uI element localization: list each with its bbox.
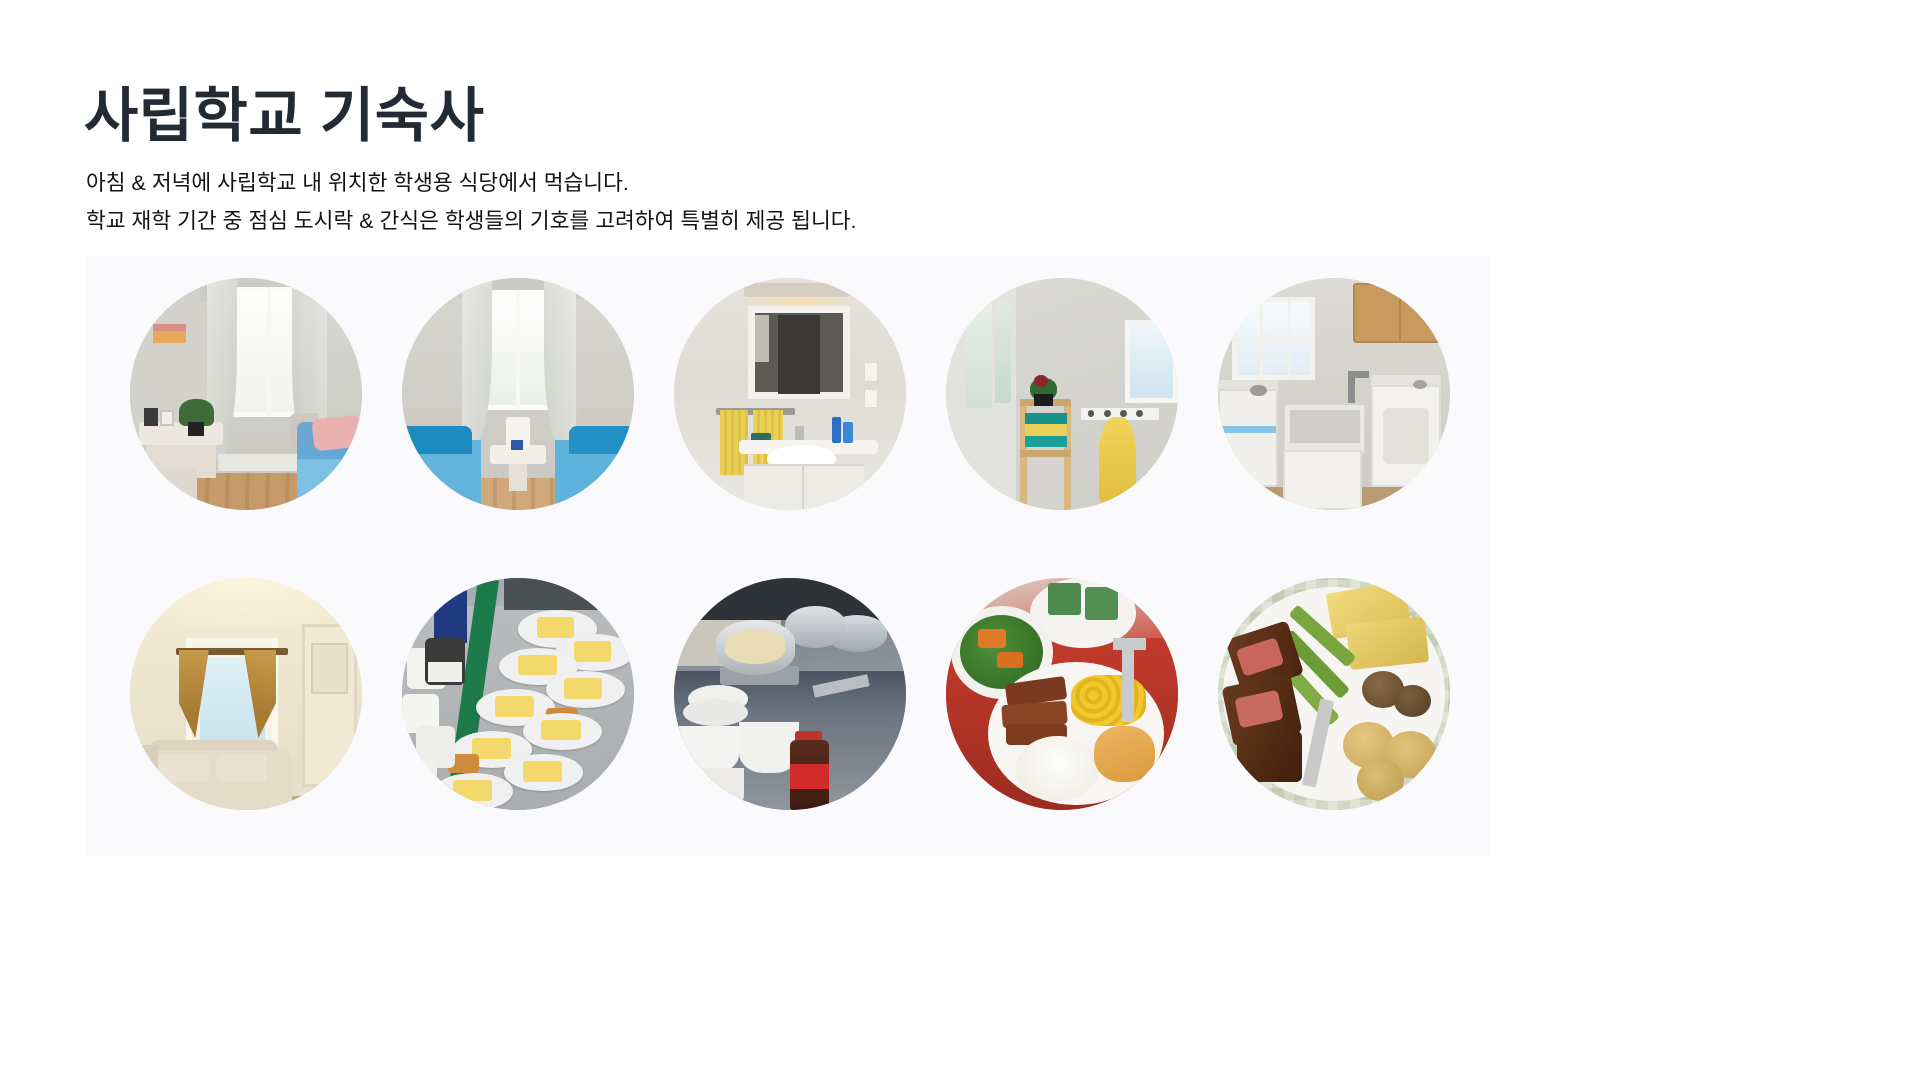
circular-photo-5[interactable] (1218, 278, 1450, 510)
intro-paragraph: 아침 & 저녁에 사립학교 내 위치한 학생용 식당에서 먹습니다. 학교 재학… (86, 165, 857, 240)
gallery-item-breakfast-plates-mugs[interactable] (402, 578, 634, 810)
circular-photo-9[interactable] (946, 578, 1178, 810)
circular-photo-1[interactable] (130, 278, 362, 510)
page-title: 사립학교 기숙사 (84, 84, 484, 149)
circular-photo-4[interactable] (946, 278, 1178, 510)
gallery-item-dorm-room-desk-bed[interactable] (130, 278, 362, 510)
photo-gallery-panel (85, 256, 1490, 856)
circular-photo-2[interactable] (402, 278, 634, 510)
photo-scene-living-room (130, 578, 362, 810)
circular-photo-6[interactable] (130, 578, 362, 810)
photo-scene-twin-beds (402, 278, 634, 510)
circular-photo-3[interactable] (674, 278, 906, 510)
photo-scene-steak-plate (1218, 578, 1450, 810)
gallery-item-living-room-sofa-window[interactable] (130, 578, 362, 810)
circular-photo-8[interactable] (674, 578, 906, 810)
photo-scene-dinner-plate (946, 578, 1178, 810)
gallery-item-buffet-chafing-dishes[interactable] (674, 578, 906, 810)
gallery-item-hallway-shelf-towel-hooks[interactable] (946, 278, 1178, 510)
gallery-item-laundry-room-washer-dryer[interactable] (1218, 278, 1450, 510)
gallery-item-bathroom-vanity-mirror[interactable] (674, 278, 906, 510)
intro-line-1: 아침 & 저녁에 사립학교 내 위치한 학생용 식당에서 먹습니다. (86, 165, 857, 203)
gallery-item-steak-potatoes-asparagus[interactable] (1218, 578, 1450, 810)
photo-scene-laundry (1218, 278, 1450, 510)
gallery-item-dorm-room-twin-beds[interactable] (402, 278, 634, 510)
photo-scene-hallway (946, 278, 1178, 510)
intro-line-2: 학교 재학 기간 중 점심 도시락 & 간식은 학생들의 기호를 고려하여 특별… (86, 203, 857, 241)
gallery-item-dinner-plate-rice-corn[interactable] (946, 578, 1178, 810)
photo-grid (85, 256, 1490, 856)
circular-photo-10[interactable] (1218, 578, 1450, 810)
photo-scene-bathroom (674, 278, 906, 510)
page-root: 사립학교 기숙사 아침 & 저녁에 사립학교 내 위치한 학생용 식당에서 먹습… (0, 0, 1920, 1080)
photo-scene-breakfast (402, 578, 634, 810)
photo-scene-buffet (674, 578, 906, 810)
circular-photo-7[interactable] (402, 578, 634, 810)
photo-scene-bedroom-desk (130, 278, 362, 510)
